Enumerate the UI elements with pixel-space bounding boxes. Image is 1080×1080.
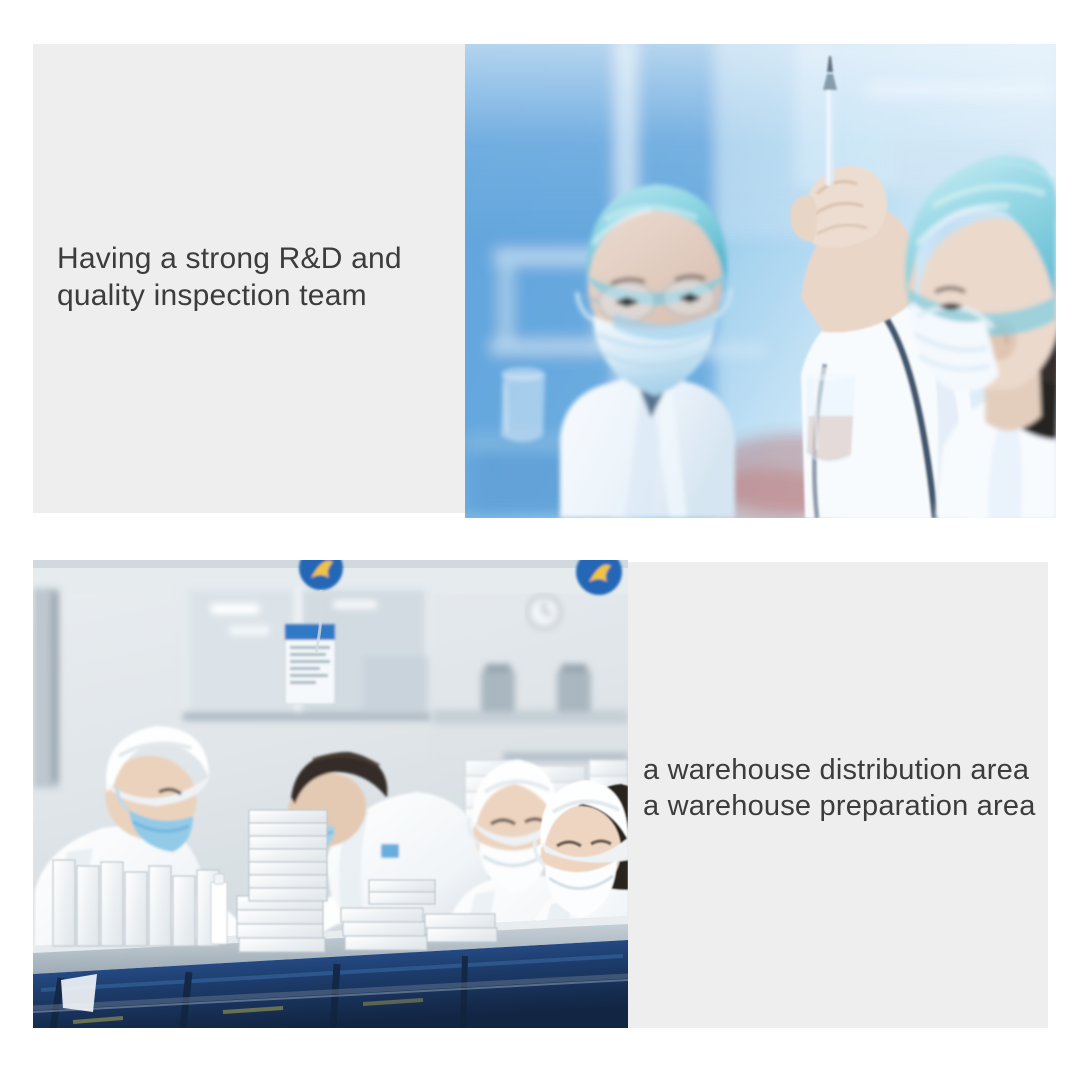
lab-photo-svg	[465, 44, 1056, 518]
warehouse-photo-svg	[33, 560, 628, 1028]
page-canvas: Having a strong R&D and quality inspecti…	[0, 0, 1080, 1080]
top-caption-text: Having a strong R&D and quality inspecti…	[57, 240, 457, 314]
bottom-caption-text: a warehouse distribution area a warehous…	[643, 752, 1043, 824]
warehouse-packing-photo	[33, 560, 628, 1028]
lab-technicians-photo	[465, 44, 1056, 518]
